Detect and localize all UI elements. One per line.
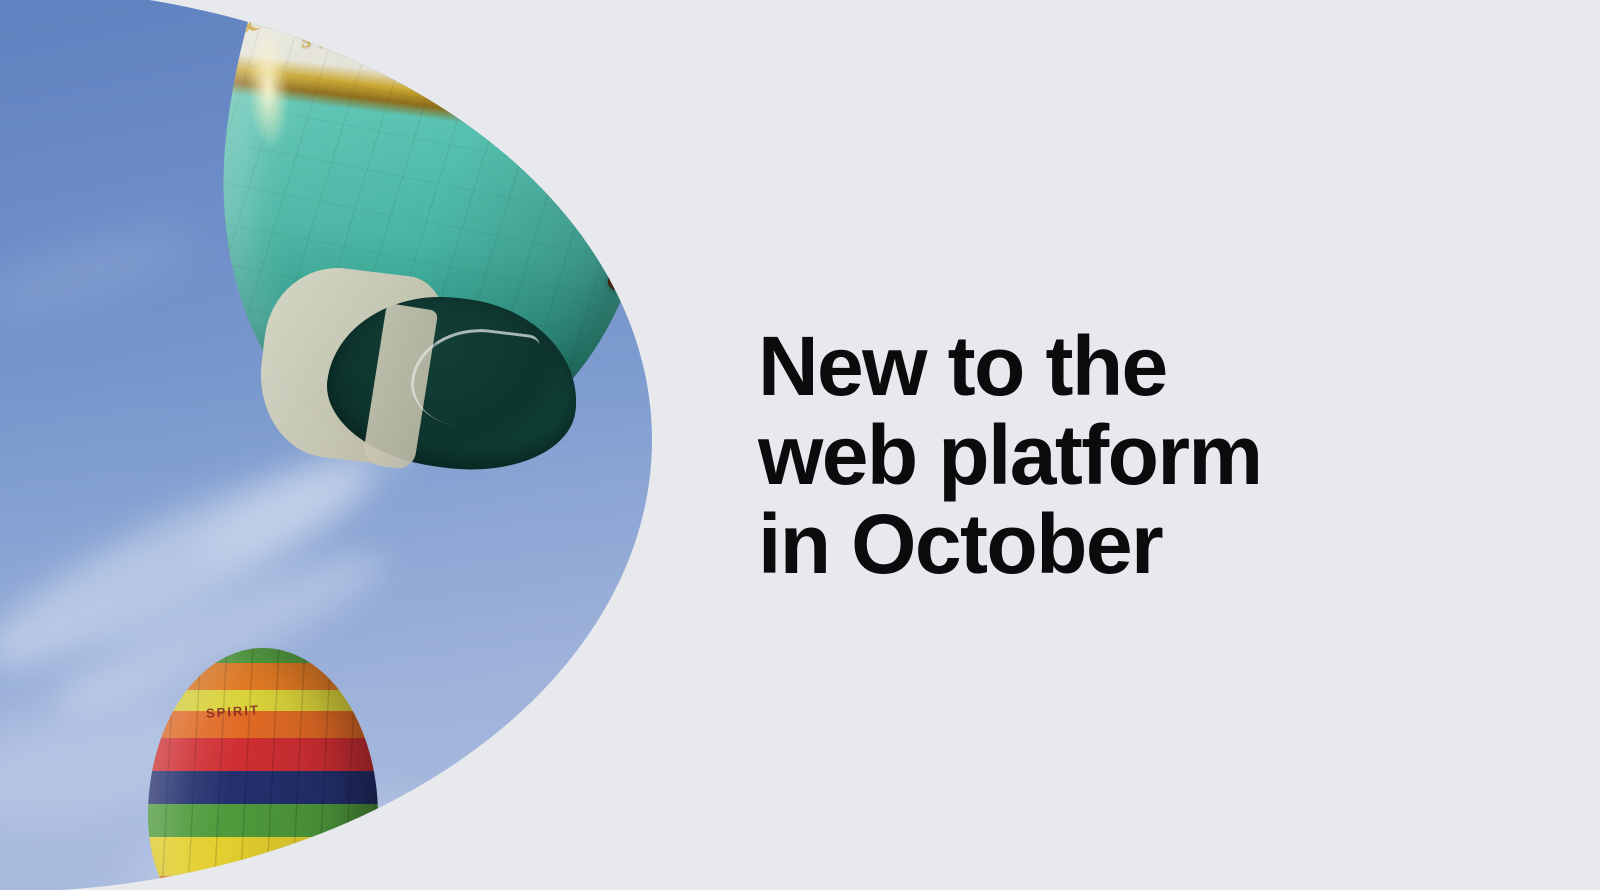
balloon-passenger	[661, 216, 673, 234]
balloon-basket	[607, 228, 699, 299]
balloon-envelope: SPIRIT	[148, 648, 378, 890]
balloon-highlight	[245, 27, 291, 149]
balloon-shading	[148, 648, 378, 890]
hero-banner: & MASON SINCE 1707	[0, 0, 1600, 890]
brand-name-text: MASON	[250, 0, 506, 36]
balloon-burner-frame	[612, 199, 681, 242]
hero-photo: & MASON SINCE 1707	[0, 0, 700, 890]
balloon-passenger	[628, 206, 643, 228]
balloon-photograph: & MASON SINCE 1707	[0, 0, 700, 890]
page-title: New to the web platform in October	[758, 322, 1518, 589]
fortnum-and-mason-balloon: & MASON SINCE 1707	[232, 0, 662, 470]
balloon-passenger	[646, 211, 660, 231]
rainbow-balloon: SPIRIT	[148, 648, 378, 890]
balloon-suspension-cables	[566, 148, 700, 268]
